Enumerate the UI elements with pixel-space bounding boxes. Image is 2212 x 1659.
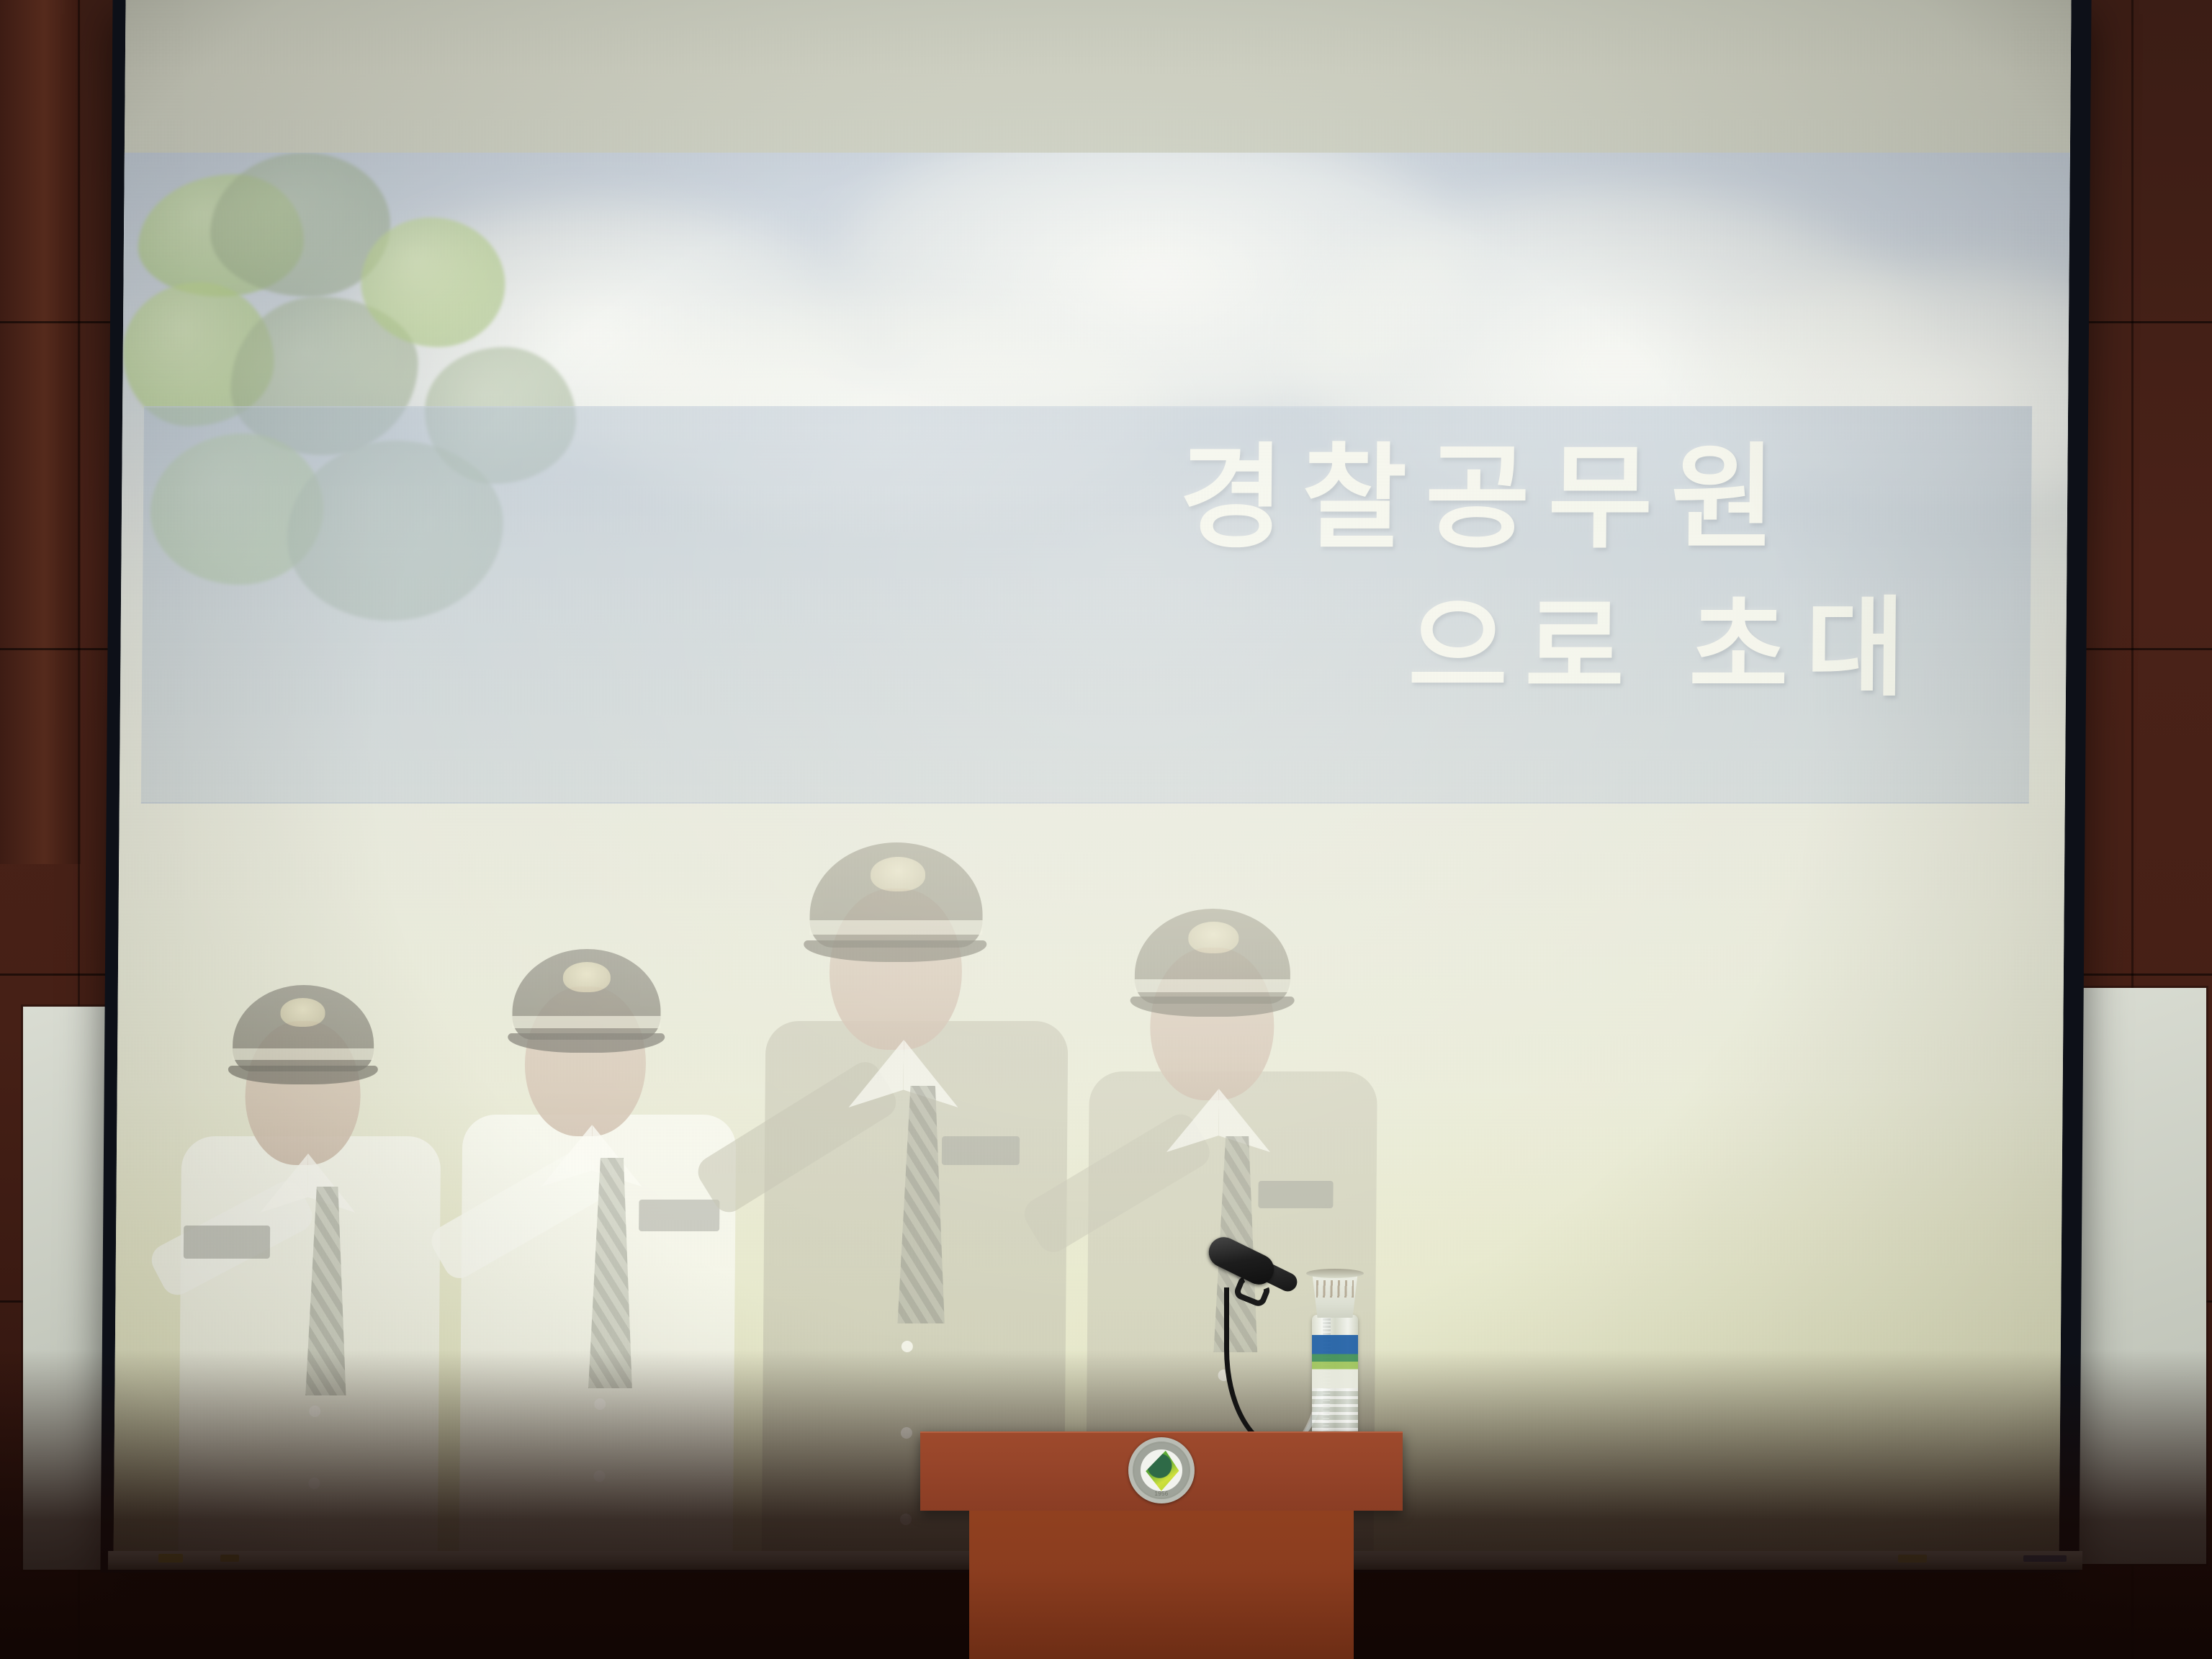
lecture-hall-scene: 경찰공무원 으로 초대 xyxy=(0,0,2212,1659)
lectern-body xyxy=(969,1511,1354,1659)
university-seal: 1956 xyxy=(1128,1437,1195,1503)
lectern-top: 1956 xyxy=(920,1431,1403,1511)
projection-screen: 경찰공무원 으로 초대 xyxy=(113,0,2071,1568)
paper-cup-print xyxy=(1316,1280,1354,1298)
lectern: 1956 xyxy=(920,1431,1403,1659)
slide-headline-banner: 경찰공무원 으로 초대 xyxy=(141,406,2032,804)
headline-line-1: 경찰공무원 xyxy=(143,441,1988,557)
police-cap xyxy=(1135,909,1291,1004)
officer-name-badge xyxy=(639,1200,719,1231)
officer-name-badge xyxy=(184,1226,270,1259)
cap-eagle-emblem xyxy=(280,998,325,1027)
leaf-shape xyxy=(361,217,505,347)
cap-eagle-emblem xyxy=(563,962,611,992)
cap-eagle-emblem xyxy=(871,857,925,891)
water-bottle[interactable] xyxy=(1312,1315,1358,1449)
police-cap xyxy=(809,842,983,948)
bottle-label xyxy=(1312,1335,1358,1388)
headline-line-2: 으로 초대 xyxy=(142,593,1987,703)
cap-band xyxy=(512,1016,660,1028)
gooseneck-microphone[interactable] xyxy=(1195,1243,1411,1459)
cap-eagle-emblem xyxy=(1188,922,1238,953)
seal-year: 1956 xyxy=(1154,1491,1168,1497)
screen-blank-header xyxy=(125,0,2072,157)
officer-ribbon-bar xyxy=(1258,1181,1333,1208)
paper-cup-rim xyxy=(1306,1269,1364,1278)
cap-band xyxy=(809,920,982,935)
cap-band xyxy=(233,1048,374,1060)
officer-ribbon-bar xyxy=(942,1136,1020,1165)
wall-left-column xyxy=(0,0,81,864)
police-cap xyxy=(512,949,661,1040)
police-cap xyxy=(233,985,374,1071)
cap-band xyxy=(1135,979,1290,992)
